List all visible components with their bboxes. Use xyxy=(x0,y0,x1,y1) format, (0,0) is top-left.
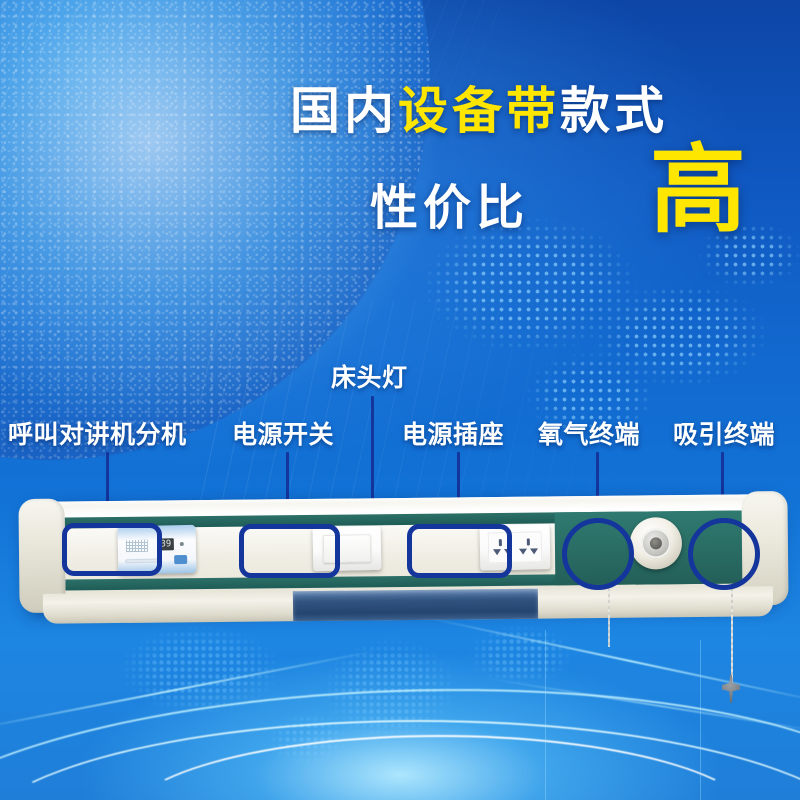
terminal-port-icon xyxy=(650,537,662,549)
socket-pin-icon xyxy=(519,549,527,555)
glow-arc-1 xyxy=(0,672,800,800)
headline-highlight: 设备带 xyxy=(398,82,560,140)
world-map-dots xyxy=(60,610,760,780)
subheadline: 性价比 xyxy=(370,168,529,238)
callout-label-oxygen: 氧气终端 xyxy=(538,415,640,451)
bg-vertical-line-2 xyxy=(700,640,701,800)
light-streak-1 xyxy=(0,650,376,732)
socket-pin-icon xyxy=(527,539,530,546)
bg-vertical-line-1 xyxy=(545,630,546,800)
glow-arc-3 xyxy=(120,735,760,800)
highlight-box-power-socket xyxy=(407,524,512,578)
callout-label-bed-lamp: 床头灯 xyxy=(331,358,408,394)
suction-pull-cord xyxy=(731,585,733,685)
bed-lamp-light-bar[interactable] xyxy=(293,589,538,622)
headline-part2: 款式 xyxy=(560,82,668,140)
highlight-box-intercom xyxy=(62,523,162,576)
callout-label-power-socket: 电源插座 xyxy=(402,415,504,451)
callout-label-intercom: 呼叫对讲机分机 xyxy=(8,415,187,451)
headline-part1: 国内 xyxy=(290,82,398,140)
promo-banner: 国内设备带款式 性价比 高 呼叫对讲机分机 电源开关 床头灯 电源插座 氧气终端… xyxy=(0,0,800,800)
headline: 国内设备带款式 xyxy=(290,85,770,138)
highlight-circle-suction xyxy=(688,518,760,590)
socket-pin-icon xyxy=(530,548,538,554)
highlight-circle-oxygen xyxy=(562,518,634,590)
intercom-call-button[interactable] xyxy=(174,555,187,564)
headline-big-char: 高 xyxy=(650,142,746,238)
glow-arc-2 xyxy=(0,720,800,800)
highlight-box-power-switch xyxy=(239,524,340,578)
cord-clip-icon xyxy=(722,675,740,703)
light-streak-3 xyxy=(482,677,800,735)
indicator-led-icon xyxy=(180,542,184,546)
oxygen-hose-cord xyxy=(608,585,610,647)
callout-label-power-switch: 电源开关 xyxy=(232,415,334,451)
callout-label-suction: 吸引终端 xyxy=(673,415,775,451)
